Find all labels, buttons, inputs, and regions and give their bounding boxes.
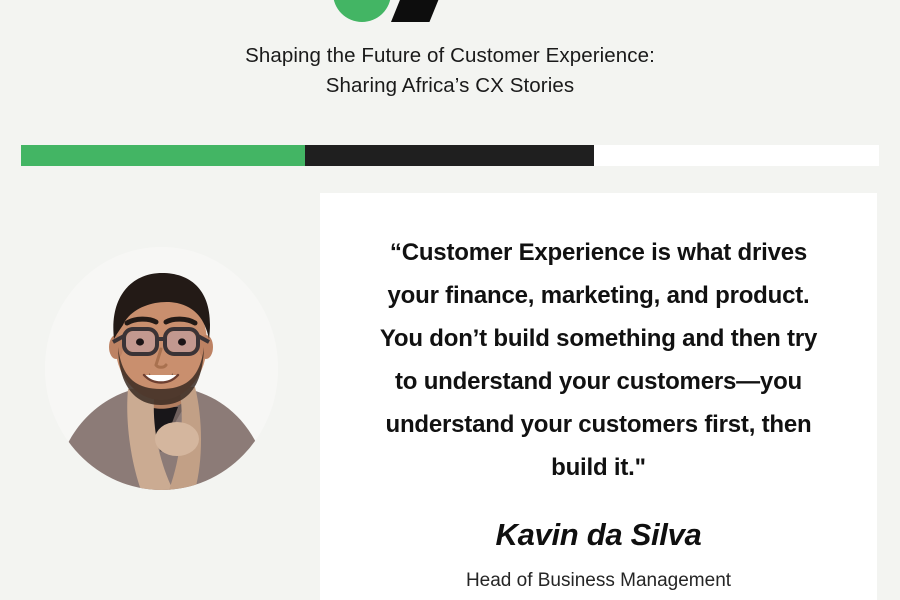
logo-slash-icon [391,0,453,22]
subtitle-line-2: Sharing Africa’s CX Stories [0,71,900,101]
speaker-role: Head of Business Management [350,566,847,595]
brand-logo: Africa [0,0,900,22]
page-subtitle: Shaping the Future of Customer Experienc… [0,41,900,101]
quote-line-3: You don’t build something and then try [350,317,847,360]
divider-segment-light [594,145,879,166]
divider-segment-dark [305,145,594,166]
quote-card: “Customer Experience is what drives your… [320,193,877,600]
quote-line-6: build it." [350,446,847,489]
logo-circle-icon [333,0,391,22]
quote-line-2: your finance, marketing, and product. [350,274,847,317]
quote-line-4: to understand your customers—you [350,360,847,403]
subtitle-line-1: Shaping the Future of Customer Experienc… [0,41,900,71]
speaker-company: Riana Group [350,595,847,600]
divider-segment-green [21,145,305,166]
quote-line-1: “Customer Experience is what drives [350,231,847,274]
quote-line-5: understand your customers first, then [350,403,847,446]
speaker-details: Head of Business Management Riana Group [350,566,847,600]
quote-text: “Customer Experience is what drives your… [350,231,847,489]
portrait-illustration [45,247,278,490]
divider-bar [21,145,879,166]
speaker-portrait [45,247,278,490]
speaker-name: Kavin da Silva [350,517,847,553]
brand-logo-inner: Africa [325,0,575,22]
quote-poster: Africa Shaping the Future of Customer Ex… [0,0,900,600]
